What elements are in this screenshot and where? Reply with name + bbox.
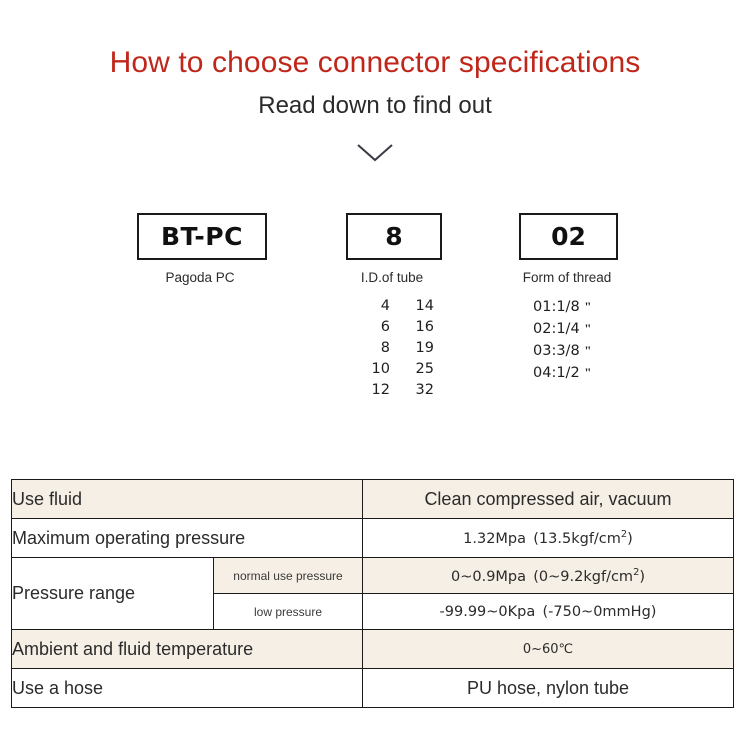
tube-id-left: 10 — [356, 359, 390, 380]
code-segment-caption-1: Pagoda PC — [137, 270, 263, 285]
list-item: 01:1/8 " — [533, 296, 592, 318]
value-main: 0~0.9Mpa (0~9.2kgf/cm — [451, 568, 633, 584]
list-item: 6 16 — [356, 317, 434, 338]
code-segment-caption-2: I.D.of tube — [346, 270, 438, 285]
code-segment-caption-3: Form of thread — [509, 270, 625, 285]
inch-mark: " — [584, 321, 591, 336]
tube-id-right: 16 — [390, 317, 434, 338]
code-segment-box-3: 02 — [519, 213, 618, 260]
table-row: Use a hose PU hose, nylon tube — [12, 669, 734, 708]
page-subtitle: Read down to find out — [0, 92, 750, 120]
thread-option-list: 01:1/8 " 02:1/4 " 03:3/8 " 04:1/2 " — [533, 296, 592, 384]
list-item: 4 14 — [356, 296, 434, 317]
tube-id-right: 25 — [390, 359, 434, 380]
list-item: 12 32 — [356, 380, 434, 401]
table-row: Use fluid Clean compressed air, vacuum — [12, 480, 734, 519]
thread-code: 01:1/8 — [533, 299, 580, 315]
tube-id-option-list: 4 14 6 16 8 19 10 25 12 32 — [356, 296, 434, 401]
row-label-pressure-range: Pressure range — [12, 558, 214, 630]
row-label-max-pressure: Maximum operating pressure — [12, 519, 363, 558]
tube-id-left: 4 — [356, 296, 390, 317]
value-tail: ) — [639, 568, 645, 584]
tube-id-right: 19 — [390, 338, 434, 359]
page-title: How to choose connector specifications — [0, 46, 750, 80]
list-item: 02:1/4 " — [533, 318, 592, 340]
list-item: 8 19 — [356, 338, 434, 359]
thread-code: 02:1/4 — [533, 321, 580, 337]
code-segment-box-1: BT-PC — [137, 213, 267, 260]
row-label-temperature: Ambient and fluid temperature — [12, 630, 363, 669]
row-value-max-pressure: 1.32Mpa (13.5kgf/cm2) — [363, 519, 734, 558]
tube-id-left: 12 — [356, 380, 390, 401]
code-segment-box-2: 8 — [346, 213, 442, 260]
row-label-use-fluid: Use fluid — [12, 480, 363, 519]
inch-mark: " — [584, 343, 591, 358]
tube-id-right: 32 — [390, 380, 434, 401]
sub-label-low-pressure: low pressure — [214, 594, 363, 630]
row-label-hose: Use a hose — [12, 669, 363, 708]
row-value-hose: PU hose, nylon tube — [363, 669, 734, 708]
specification-table: Use fluid Clean compressed air, vacuum M… — [11, 479, 734, 708]
list-item: 04:1/2 " — [533, 362, 592, 384]
value-tail: ) — [627, 531, 633, 547]
tube-id-right: 14 — [390, 296, 434, 317]
chevron-down-icon — [355, 142, 395, 164]
tube-id-left: 6 — [356, 317, 390, 338]
tube-id-left: 8 — [356, 338, 390, 359]
row-value-temperature: 0~60℃ — [363, 630, 734, 669]
table-row: Ambient and fluid temperature 0~60℃ — [12, 630, 734, 669]
list-item: 10 25 — [356, 359, 434, 380]
row-value-low-pressure: -99.99~0Kpa (-750~0mmHg) — [363, 594, 734, 630]
row-value-use-fluid: Clean compressed air, vacuum — [363, 480, 734, 519]
list-item: 03:3/8 " — [533, 340, 592, 362]
table-row: Pressure range normal use pressure 0~0.9… — [12, 558, 734, 594]
sub-label-normal-use-pressure: normal use pressure — [214, 558, 363, 594]
value-main: 1.32Mpa (13.5kgf/cm — [463, 531, 621, 547]
inch-mark: " — [584, 365, 591, 380]
thread-code: 04:1/2 — [533, 365, 580, 381]
thread-code: 03:3/8 — [533, 343, 580, 359]
row-value-normal-use-pressure: 0~0.9Mpa (0~9.2kgf/cm2) — [363, 558, 734, 594]
inch-mark: " — [584, 299, 591, 314]
table-row: Maximum operating pressure 1.32Mpa (13.5… — [12, 519, 734, 558]
